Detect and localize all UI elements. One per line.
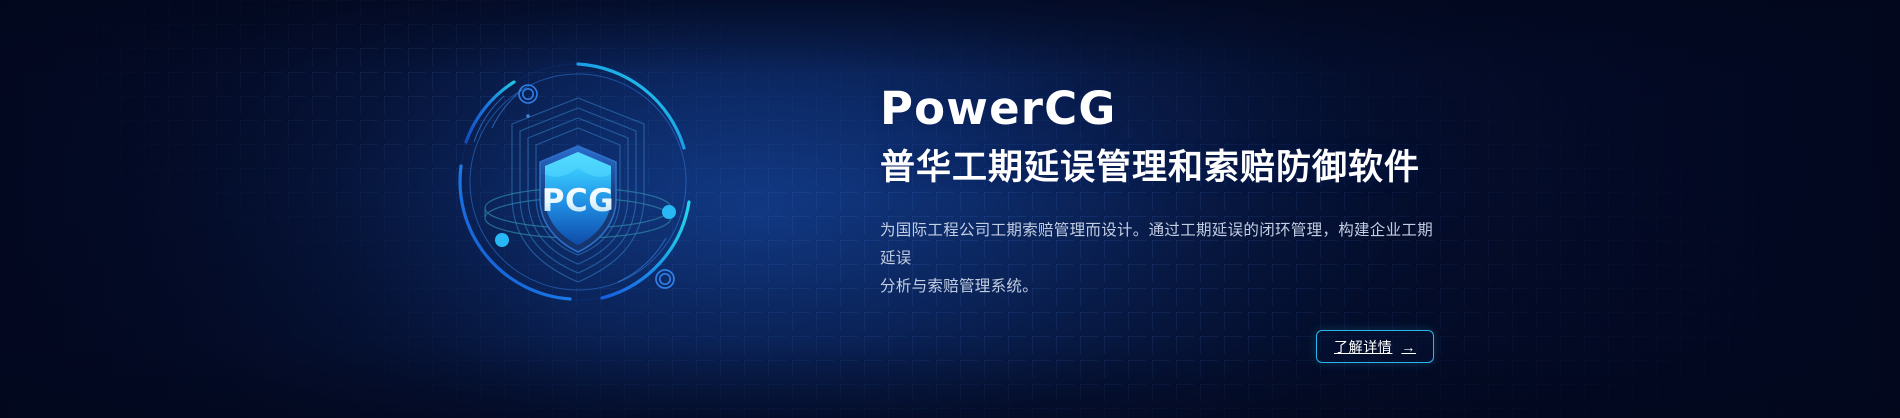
logo-spark-dot	[526, 114, 530, 118]
learn-more-button[interactable]: 了解详情 →	[1316, 330, 1434, 363]
product-description: 为国际工程公司工期索赔管理而设计。通过工期延误的闭环管理，构建企业工期延误 分析…	[880, 217, 1440, 300]
logo-shield: PCG	[540, 146, 616, 252]
arrow-right-icon: →	[1401, 340, 1416, 354]
description-line-2: 分析与索赔管理系统。	[880, 273, 1440, 301]
hero-copy: PowerCG 普华工期延误管理和索赔防御软件 为国际工程公司工期索赔管理而设计…	[880, 86, 1520, 300]
logo-node-bottom-right	[656, 270, 674, 288]
brand-logo: PCG	[452, 56, 704, 308]
logo-orbit-dot-right	[662, 205, 676, 219]
description-line-1: 为国际工程公司工期索赔管理而设计。通过工期延误的闭环管理，构建企业工期延误	[880, 217, 1440, 272]
logo-orbit-dot-left	[495, 233, 509, 247]
product-subtitle: 普华工期延误管理和索赔防御软件	[880, 147, 1520, 190]
logo-node-top-left	[519, 85, 537, 103]
product-title: PowerCG	[880, 86, 1520, 133]
powercg-hero-banner: PCG PowerCG 普华工期延误管理和索赔防御软件 为国际工程公司工期索赔管…	[0, 0, 1900, 418]
logo-monogram-pcg: PCG	[542, 183, 614, 219]
learn-more-label: 了解详情	[1334, 337, 1392, 357]
